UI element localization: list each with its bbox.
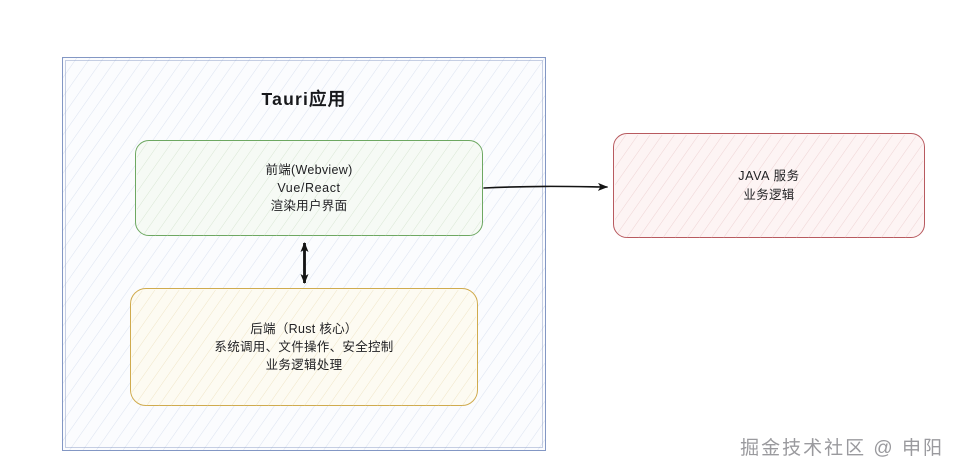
java-service-node[interactable]: JAVA 服务 业务逻辑 xyxy=(613,133,925,238)
diagram-canvas: Tauri应用 前端(Webview) Vue/React 渲染用户界面 xyxy=(0,0,962,472)
frontend-line-3: 渲染用户界面 xyxy=(265,197,352,215)
frontend-node-label: 前端(Webview) Vue/React 渲染用户界面 xyxy=(265,161,352,215)
backend-line-1: 后端（Rust 核心） xyxy=(214,320,393,338)
java-node-label: JAVA 服务 业务逻辑 xyxy=(738,167,799,203)
frontend-line-2: Vue/React xyxy=(265,179,352,197)
frontend-line-1: 前端(Webview) xyxy=(265,161,352,179)
backend-line-2: 系统调用、文件操作、安全控制 xyxy=(214,338,393,356)
java-line-1: JAVA 服务 xyxy=(738,167,799,185)
frontend-webview-node[interactable]: 前端(Webview) Vue/React 渲染用户界面 xyxy=(135,140,483,236)
watermark-text: 掘金技术社区 @ 申阳 xyxy=(740,433,944,460)
page-title: Tauri应用 xyxy=(63,86,545,111)
backend-node-label: 后端（Rust 核心） 系统调用、文件操作、安全控制 业务逻辑处理 xyxy=(214,320,393,374)
java-line-2: 业务逻辑 xyxy=(738,186,799,204)
backend-rust-core-node[interactable]: 后端（Rust 核心） 系统调用、文件操作、安全控制 业务逻辑处理 xyxy=(130,288,478,406)
backend-line-3: 业务逻辑处理 xyxy=(214,356,393,374)
